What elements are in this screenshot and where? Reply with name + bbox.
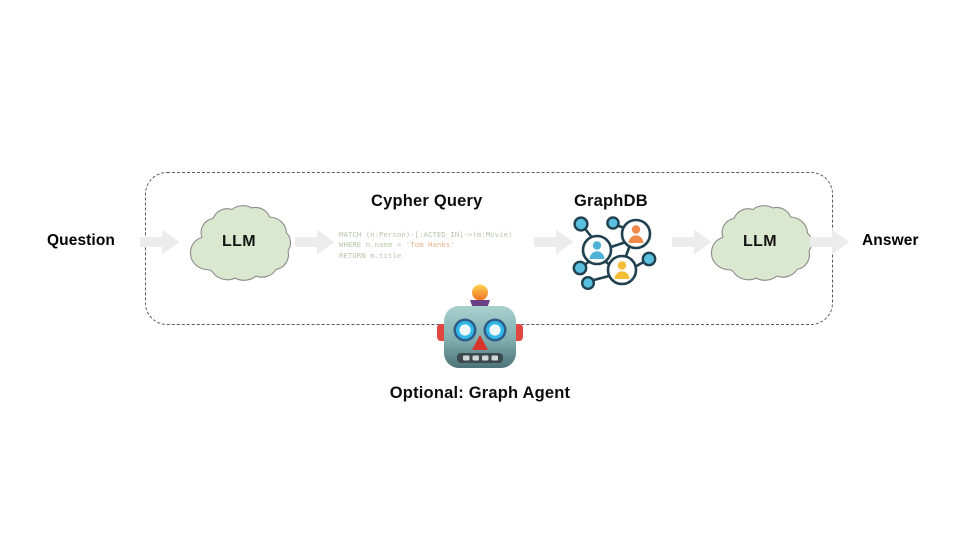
question-label: Question [47, 232, 115, 250]
arrow-right-icon-5 [810, 229, 850, 255]
llm-cloud-2-label: LLM [707, 233, 813, 251]
graphdb-title: GraphDB [574, 192, 648, 211]
answer-label: Answer [862, 232, 919, 250]
diagram-canvas: Question LLM Cypher Query MATCH (n:Perso… [0, 0, 960, 540]
arrow-right-icon-2 [295, 229, 335, 255]
graph-network-icon [568, 212, 662, 290]
cypher-code-line-1: MATCH (n:Person)-[:ACTED_IN]->(m:Movie) [339, 230, 513, 239]
cypher-code-line-2-value: 'Tom Hanks' [406, 240, 455, 249]
cypher-code-line-3: RETURN m.title [339, 251, 401, 260]
arrow-right-icon-4 [672, 229, 712, 255]
llm-cloud-1-label: LLM [186, 233, 292, 251]
llm-cloud-1: LLM [186, 204, 292, 282]
llm-cloud-2: LLM [707, 204, 813, 282]
robot-face-icon [434, 283, 526, 375]
cypher-query-title: Cypher Query [371, 192, 483, 211]
cypher-code-block: MATCH (n:Person)-[:ACTED_IN]->(m:Movie) … [339, 230, 524, 261]
cypher-code-line-2-prefix: WHERE n.name = [339, 240, 406, 249]
graph-agent-caption: Optional: Graph Agent [0, 384, 960, 403]
arrow-right-icon-1 [140, 229, 180, 255]
